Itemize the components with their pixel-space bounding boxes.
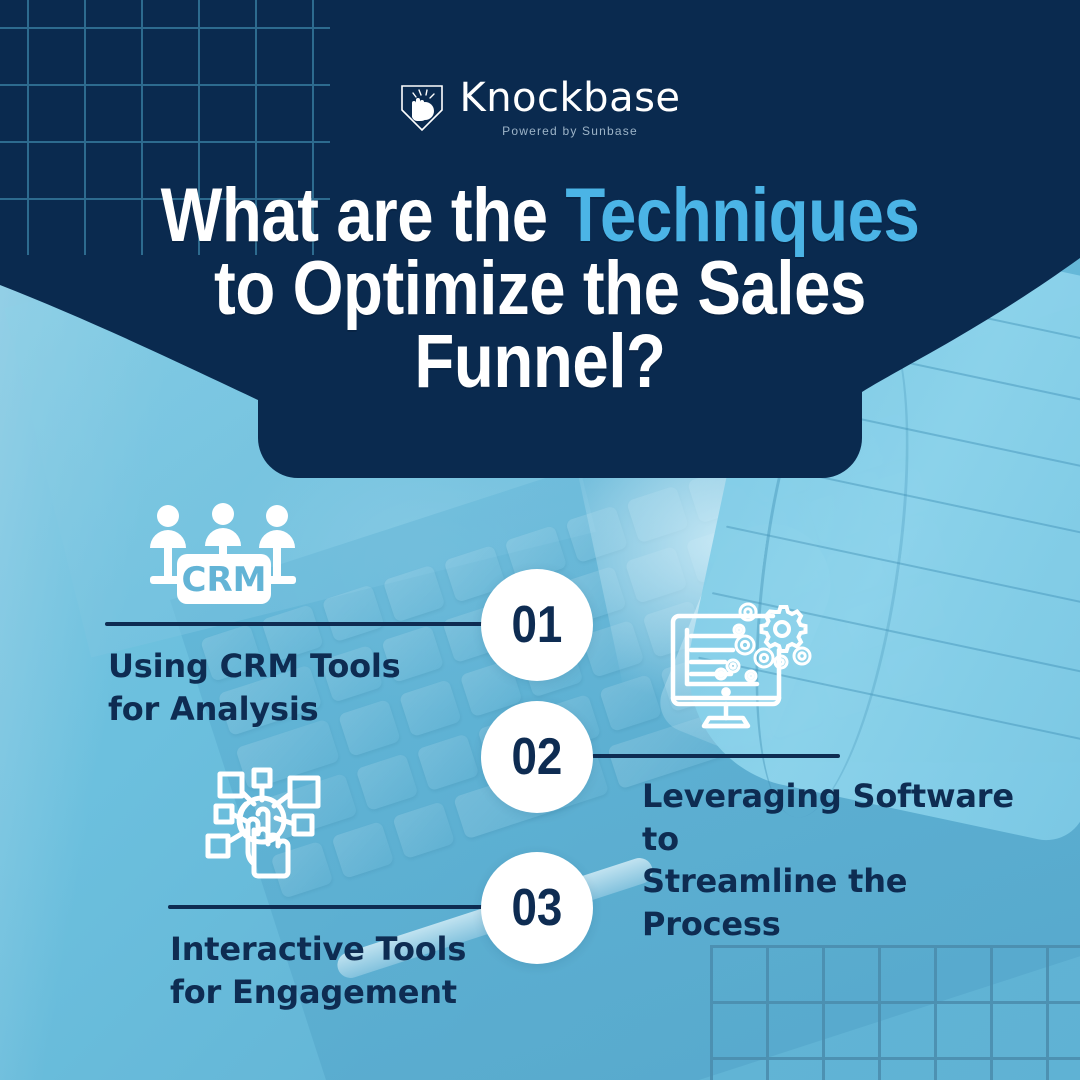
title-line-3: Funnel? bbox=[153, 326, 927, 399]
title-line-2: to Optimize the Sales bbox=[153, 253, 927, 326]
title-line-1: What are the Techniques bbox=[153, 180, 927, 253]
step-label-1-line2: for Analysis bbox=[108, 688, 488, 731]
step-label-2: Leveraging Software to Streamline the Pr… bbox=[642, 775, 1052, 945]
step-label-3: Interactive Tools for Engagement bbox=[170, 928, 550, 1013]
step-number-1: 01 bbox=[512, 595, 563, 655]
infographic-poster: Knockbase Powered by Sunbase What are th… bbox=[0, 0, 1080, 1080]
step-label-2-line1: Leveraging Software to bbox=[642, 775, 1052, 860]
shield-knock-hand-icon bbox=[399, 83, 445, 133]
touch-network-icon bbox=[198, 764, 330, 892]
grid-pattern-bottom-right bbox=[710, 945, 1080, 1080]
page-title: What are the Techniques to Optimize the … bbox=[153, 180, 927, 399]
step-number-2: 02 bbox=[512, 727, 563, 787]
step-label-3-line2: for Engagement bbox=[170, 971, 550, 1014]
brand-logo[interactable]: Knockbase Powered by Sunbase bbox=[0, 78, 1080, 138]
crm-icon-label: CRM bbox=[182, 560, 267, 600]
connector-line-3 bbox=[168, 905, 486, 909]
step-label-3-line1: Interactive Tools bbox=[170, 928, 550, 971]
monitor-gears-icon bbox=[665, 600, 817, 735]
step-label-2-line2: Streamline the Process bbox=[642, 860, 1052, 945]
step-number-circle-1[interactable]: 01 bbox=[481, 569, 593, 681]
step-number-circle-2[interactable]: 02 bbox=[481, 701, 593, 813]
brand-tagline: Powered by Sunbase bbox=[502, 124, 638, 138]
brand-name: Knockbase bbox=[459, 78, 680, 118]
connector-line-2 bbox=[592, 754, 840, 758]
step-label-1-line1: Using CRM Tools bbox=[108, 645, 488, 688]
crm-people-icon: CRM bbox=[143, 502, 303, 606]
connector-line-1 bbox=[105, 622, 485, 626]
step-label-1: Using CRM Tools for Analysis bbox=[108, 645, 488, 730]
